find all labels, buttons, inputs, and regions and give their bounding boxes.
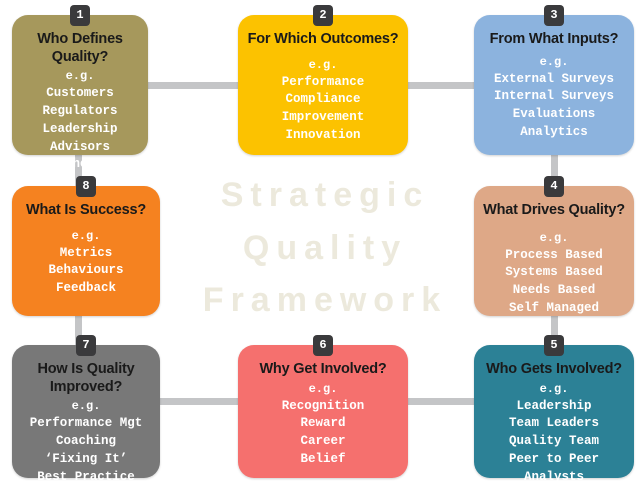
box-6-items: Recognition Reward Career Belief [244, 398, 402, 469]
box-3-item: Analytics [480, 124, 628, 142]
box-8-items: Metrics Behaviours Feedback [18, 245, 154, 298]
box-5-number-badge: 5 [544, 335, 564, 356]
box-6-title: Why Get Involved? [244, 361, 402, 379]
box-2-eg-label: e.g. [244, 57, 402, 74]
strategic-quality-framework-diagram: Strategic Quality Framework 1 Who Define… [0, 0, 640, 480]
box-7-eg-label: e.g. [18, 398, 154, 415]
box-4-items: Process Based Systems Based Needs Based … [480, 247, 628, 318]
box-5-items: Leadership Team Leaders Quality Team Pee… [480, 398, 628, 486]
box-4-item: Systems Based [480, 264, 628, 282]
connector-box6-box5 [404, 398, 478, 405]
box-6-eg-label: e.g. [244, 381, 402, 398]
box-6-item: Career [244, 433, 402, 451]
box-2-number-badge: 2 [313, 5, 333, 26]
box-4-item: Needs Based [480, 282, 628, 300]
box-7-how-is-quality-improved[interactable]: 7 How Is Quality Improved? e.g. Performa… [12, 345, 160, 478]
box-1-item: Customers [18, 85, 142, 103]
box-7-item: Performance Mgt [18, 415, 154, 433]
box-1-item: Leadership [18, 121, 142, 139]
box-1-item: Others [18, 156, 142, 174]
box-5-eg-label: e.g. [480, 381, 628, 398]
box-5-item: Team Leaders [480, 415, 628, 433]
box-6-item: Belief [244, 451, 402, 469]
connector-box2-box3 [404, 82, 478, 89]
box-8-item: Feedback [18, 280, 154, 298]
connector-box1-box2 [144, 82, 242, 89]
box-5-item: Peer to Peer [480, 451, 628, 469]
box-1-item: Advisors [18, 139, 142, 157]
box-7-item: Coaching [18, 433, 154, 451]
box-6-item: Recognition [244, 398, 402, 416]
box-5-item: Analysts [480, 469, 628, 486]
box-7-item: ‘Fixing It’ [18, 451, 154, 469]
box-2-items: Performance Compliance Improvement Innov… [244, 74, 402, 145]
box-2-title: For Which Outcomes? [244, 31, 402, 49]
box-4-title: What Drives Quality? [480, 202, 628, 220]
box-1-item: Regulators [18, 103, 142, 121]
box-6-number-badge: 6 [313, 335, 333, 356]
box-1-items: Customers Regulators Leadership Advisors… [18, 85, 142, 174]
box-1-who-defines-quality[interactable]: 1 Who Defines Quality? e.g. Customers Re… [12, 15, 148, 155]
box-4-number-badge: 4 [544, 176, 564, 197]
box-8-title: What Is Success? [18, 202, 154, 220]
box-8-eg-label: e.g. [18, 228, 154, 245]
box-1-number-badge: 1 [70, 5, 90, 26]
box-3-number-badge: 3 [544, 5, 564, 26]
box-2-for-which-outcomes[interactable]: 2 For Which Outcomes? e.g. Performance C… [238, 15, 408, 155]
watermark-line-2: Quality [243, 222, 407, 275]
box-8-number-badge: 8 [76, 176, 96, 197]
box-3-from-what-inputs[interactable]: 3 From What Inputs? e.g. External Survey… [474, 15, 634, 155]
box-4-eg-label: e.g. [480, 230, 628, 247]
box-6-item: Reward [244, 415, 402, 433]
box-3-eg-label: e.g. [480, 54, 628, 71]
box-3-item: External Surveys [480, 71, 628, 89]
box-1-eg-label: e.g. [18, 68, 142, 85]
box-7-number-badge: 7 [76, 335, 96, 356]
box-3-title: From What Inputs? [480, 31, 628, 49]
box-3-items: External Surveys Internal Surveys Evalua… [480, 71, 628, 142]
box-8-what-is-success[interactable]: 8 What Is Success? e.g. Metrics Behaviou… [12, 186, 160, 316]
box-5-item: Quality Team [480, 433, 628, 451]
box-2-item: Innovation [244, 127, 402, 145]
box-8-item: Behaviours [18, 262, 154, 280]
box-2-item: Compliance [244, 91, 402, 109]
box-5-item: Leadership [480, 398, 628, 416]
box-7-items: Performance Mgt Coaching ‘Fixing It’ Bes… [18, 415, 154, 486]
box-7-item: Best Practice [18, 469, 154, 486]
box-3-item: Evaluations [480, 106, 628, 124]
watermark-line-1: Strategic [221, 169, 430, 222]
box-8-item: Metrics [18, 245, 154, 263]
box-2-item: Improvement [244, 109, 402, 127]
box-2-item: Performance [244, 74, 402, 92]
box-6-why-get-involved[interactable]: 6 Why Get Involved? e.g. Recognition Rew… [238, 345, 408, 478]
box-7-title: How Is Quality Improved? [18, 361, 154, 396]
box-4-what-drives-quality[interactable]: 4 What Drives Quality? e.g. Process Base… [474, 186, 634, 316]
center-watermark: Strategic Quality Framework [160, 168, 490, 328]
watermark-line-3: Framework [203, 274, 447, 327]
box-3-item: Internal Surveys [480, 88, 628, 106]
box-1-title: Who Defines Quality? [18, 31, 142, 66]
box-5-who-gets-involved[interactable]: 5 Who Gets Involved? e.g. Leadership Tea… [474, 345, 634, 478]
box-4-item: Self Managed [480, 300, 628, 318]
box-5-title: Who Gets Involved? [480, 361, 628, 379]
box-4-item: Process Based [480, 247, 628, 265]
